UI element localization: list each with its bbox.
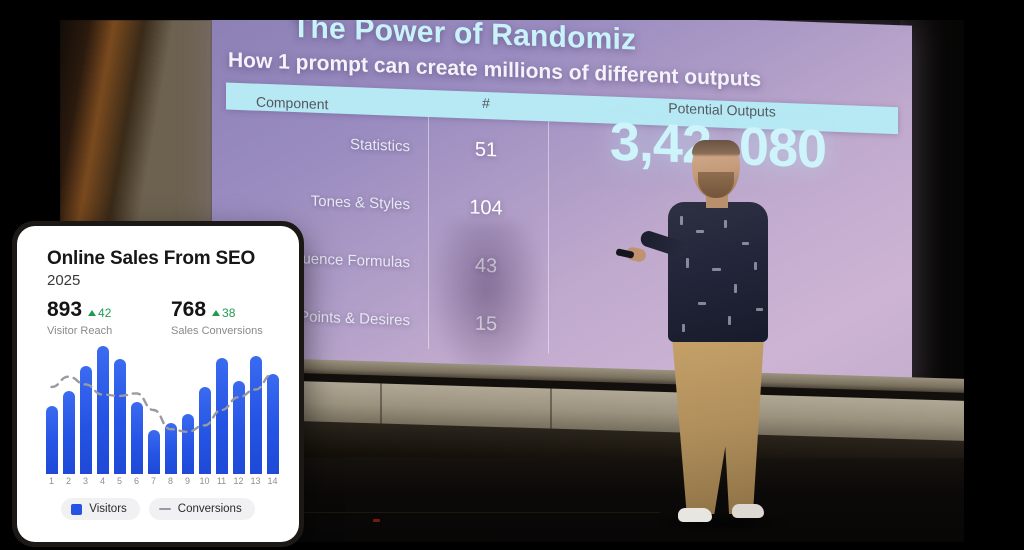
square-swatch-icon (71, 504, 82, 515)
x-axis-tick-label: 5 (111, 476, 129, 486)
kpi-value: 768 (171, 298, 206, 322)
sales-bar-chart[interactable] (43, 342, 281, 474)
speaker-shoe-left (678, 508, 712, 522)
analytics-card-frame: Online Sales From SEO 2025 893 42 Visito… (12, 221, 304, 547)
legend-label: Conversions (178, 503, 242, 515)
kpi-delta: 38 (212, 306, 235, 320)
speaker-shirt (668, 202, 768, 342)
x-axis-tick-label: 13 (247, 476, 265, 486)
x-axis-tick-label: 12 (230, 476, 248, 486)
kpi-delta: 42 (88, 306, 111, 320)
legend-item-visitors[interactable]: Visitors (61, 498, 140, 520)
legend-item-conversions[interactable]: Conversions (149, 498, 255, 520)
chart-x-axis: 1234567891011121314 (43, 476, 281, 490)
x-axis-tick-label: 2 (60, 476, 78, 486)
slide-row-count: 51 (426, 136, 546, 163)
speaker-hair (692, 140, 740, 157)
x-axis-tick-label: 11 (213, 476, 231, 486)
x-axis-tick-label: 9 (179, 476, 197, 486)
speaker-figure (638, 140, 798, 550)
x-axis-tick-label: 4 (94, 476, 112, 486)
projected-slide: The Power of Randomiz How 1 prompt can c… (212, 0, 912, 396)
x-axis-tick-label: 8 (162, 476, 180, 486)
legend-label: Visitors (89, 503, 127, 515)
kpi-delta-value: 38 (222, 306, 235, 320)
card-title: Online Sales From SEO (47, 248, 255, 270)
x-axis-tick-label: 7 (145, 476, 163, 486)
x-axis-tick-label: 6 (128, 476, 146, 486)
kpi-group: 893 42 Visitor Reach 768 38 (47, 298, 287, 337)
x-axis-tick-label: 14 (264, 476, 282, 486)
kpi-value: 893 (47, 298, 82, 322)
slide-row-label: Tones & Styles (226, 190, 426, 214)
triangle-up-icon (212, 310, 220, 316)
floor-marker (373, 519, 380, 522)
kpi-visitor-reach: 893 42 Visitor Reach (47, 298, 171, 337)
x-axis-tick-label: 10 (196, 476, 214, 486)
photo-letterbox-top (60, 0, 964, 20)
kpi-delta-value: 42 (98, 306, 111, 320)
dash-swatch-icon (159, 508, 171, 510)
speaker-legs (672, 336, 764, 514)
kpi-label: Sales Conversions (171, 325, 287, 337)
x-axis-tick-label: 3 (77, 476, 95, 486)
x-axis-tick-label: 1 (43, 476, 61, 486)
slide-row-label: Statistics (226, 132, 426, 156)
speaker-shoe-right (732, 504, 764, 518)
trend-line-conversions (43, 342, 281, 474)
chart-legend: Visitors Conversions (17, 498, 299, 520)
triangle-up-icon (88, 310, 96, 316)
analytics-card: Online Sales From SEO 2025 893 42 Visito… (17, 226, 299, 542)
kpi-label: Visitor Reach (47, 325, 171, 337)
screenshot-root: The Power of Randomiz How 1 prompt can c… (0, 0, 1024, 550)
kpi-sales-conversions: 768 38 Sales Conversions (171, 298, 287, 337)
slide-col-count: # (426, 93, 546, 118)
card-year: 2025 (47, 272, 80, 289)
